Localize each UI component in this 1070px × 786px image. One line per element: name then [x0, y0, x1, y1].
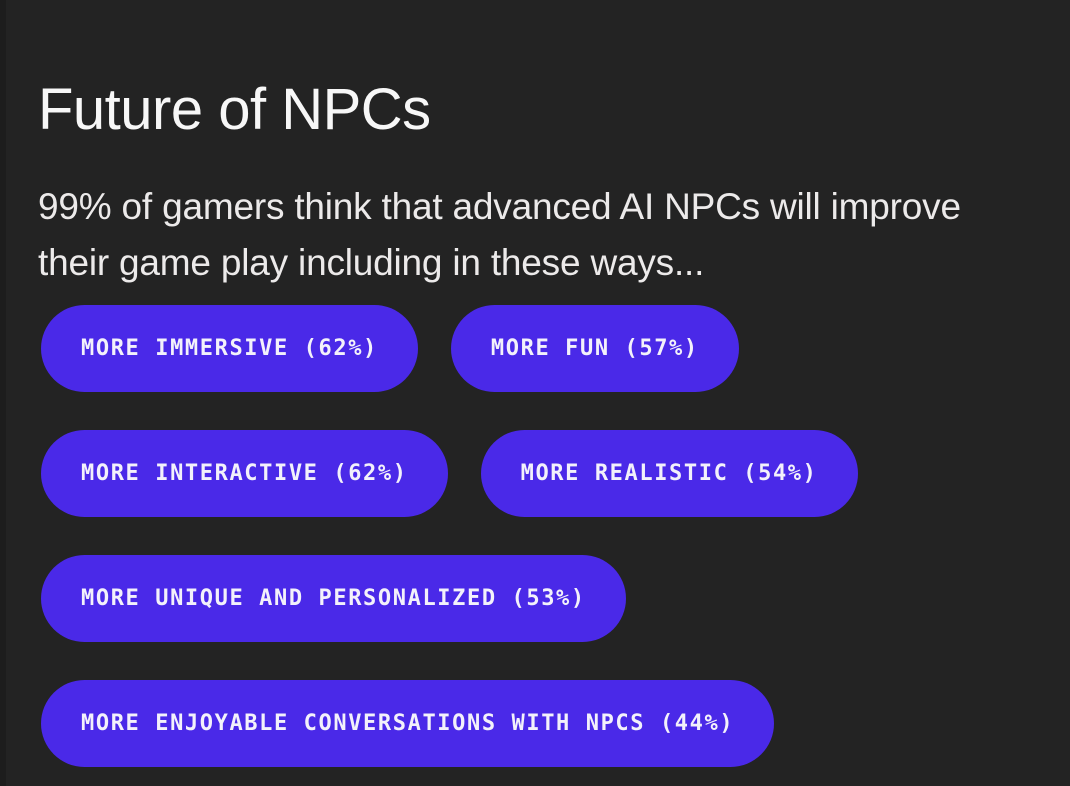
stat-pill-row: MORE UNIQUE AND PERSONALIZED (53%) [41, 555, 1070, 642]
page-title: Future of NPCs [38, 77, 998, 143]
stat-pill-row: MORE ENJOYABLE CONVERSATIONS WITH NPCS (… [41, 680, 1070, 767]
stat-pill: MORE IMMERSIVE (62%) [41, 305, 418, 392]
stat-pill: MORE UNIQUE AND PERSONALIZED (53%) [41, 555, 626, 642]
stat-pill: MORE ENJOYABLE CONVERSATIONS WITH NPCS (… [41, 680, 774, 767]
stat-pill-row: MORE IMMERSIVE (62%) MORE FUN (57%) [41, 305, 1070, 392]
left-edge-shade [0, 0, 6, 786]
stat-pill: MORE REALISTIC (54%) [481, 430, 858, 517]
stat-pill: MORE INTERACTIVE (62%) [41, 430, 448, 517]
stat-pill-list: MORE IMMERSIVE (62%) MORE FUN (57%) MORE… [41, 305, 1070, 767]
infographic-canvas: Future of NPCs 99% of gamers think that … [0, 0, 1070, 786]
stat-pill-row: MORE INTERACTIVE (62%) MORE REALISTIC (5… [41, 430, 1070, 517]
stat-pill: MORE FUN (57%) [451, 305, 739, 392]
page-subtitle: 99% of gamers think that advanced AI NPC… [38, 179, 1023, 291]
